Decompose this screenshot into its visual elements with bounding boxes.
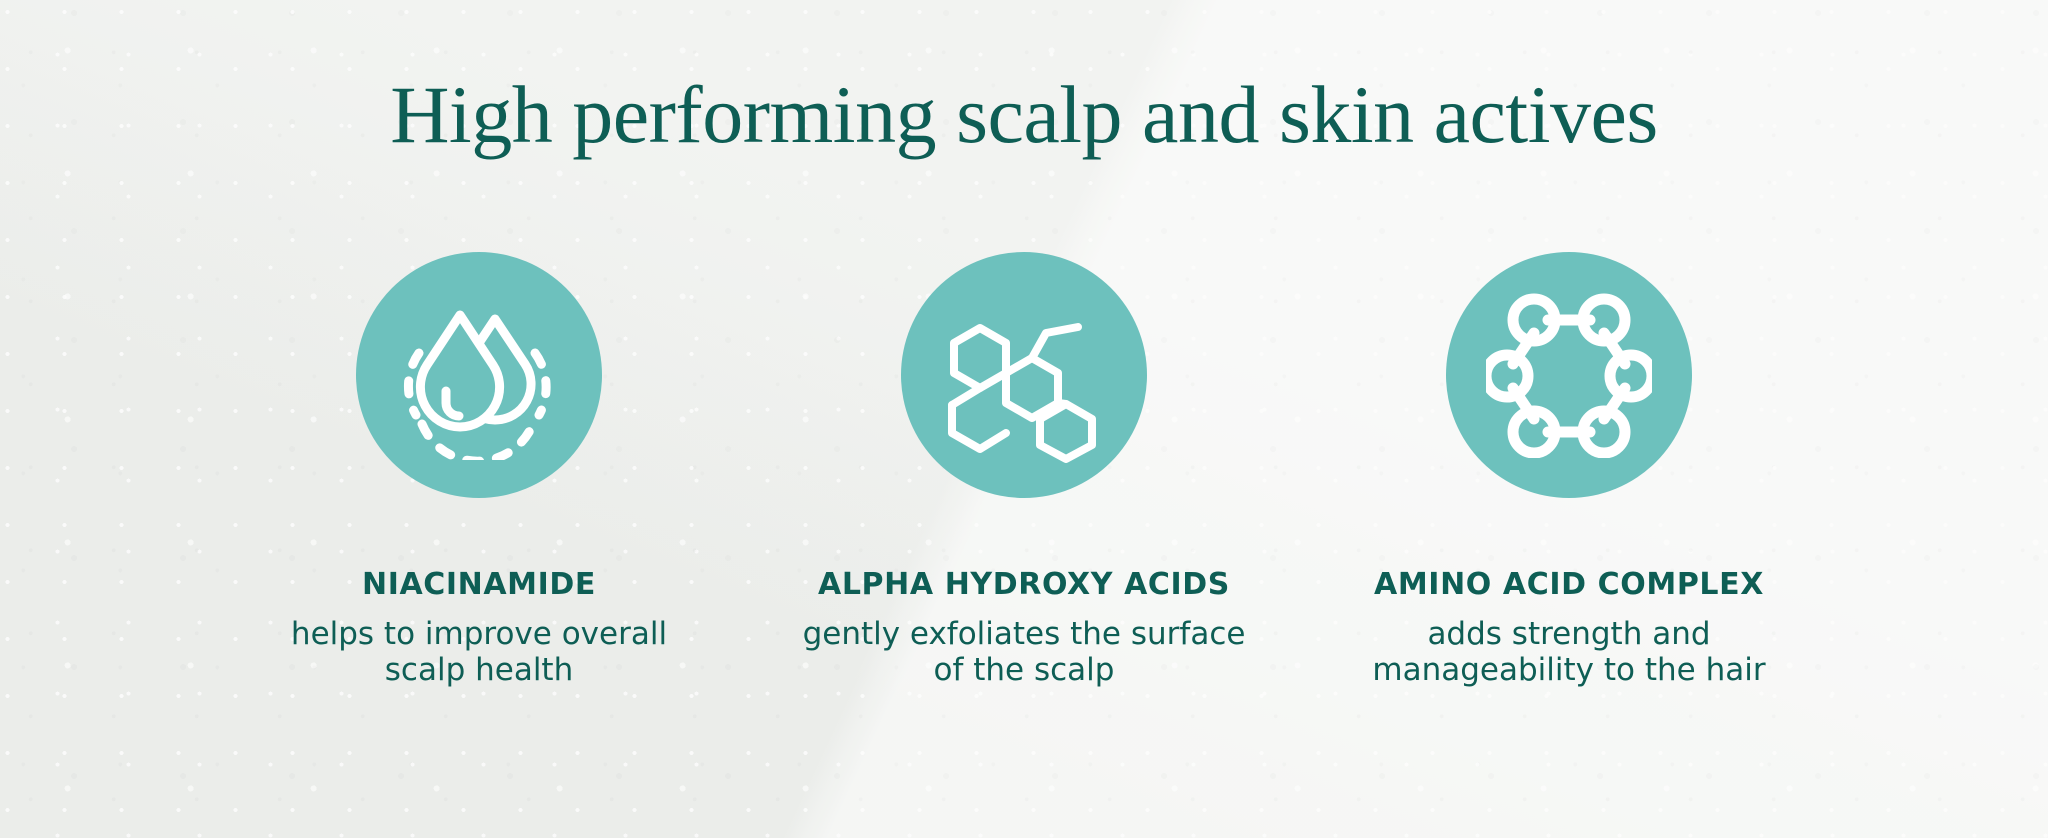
active-card-amino-acid-complex: AMINO ACID COMPLEX adds strength and man… [1342, 252, 1797, 688]
amino-acid-ring-icon [1486, 292, 1652, 458]
active-card-title: NIACINAMIDE [362, 568, 596, 602]
active-card-description: gently exfoliates the surface of the sca… [797, 616, 1252, 689]
actives-infographic: High performing scalp and skin actives [0, 0, 2048, 838]
icon-circle-niacinamide [356, 252, 602, 498]
water-droplets-icon [394, 290, 564, 460]
active-card-title: ALPHA HYDROXY ACIDS [818, 568, 1230, 602]
active-card-niacinamide: NIACINAMIDE helps to improve overall sca… [252, 252, 707, 688]
page-title: High performing scalp and skin actives [0, 74, 2048, 156]
actives-card-list: NIACINAMIDE helps to improve overall sca… [0, 252, 2048, 688]
active-card-description: adds strength and manageability to the h… [1342, 616, 1797, 689]
icon-circle-amino-acid-complex [1446, 252, 1692, 498]
molecule-hexagons-icon [936, 287, 1112, 463]
active-card-description: helps to improve overall scalp health [252, 616, 707, 689]
icon-circle-alpha-hydroxy-acids [901, 252, 1147, 498]
active-card-title: AMINO ACID COMPLEX [1374, 568, 1764, 602]
active-card-alpha-hydroxy-acids: ALPHA HYDROXY ACIDS gently exfoliates th… [797, 252, 1252, 688]
